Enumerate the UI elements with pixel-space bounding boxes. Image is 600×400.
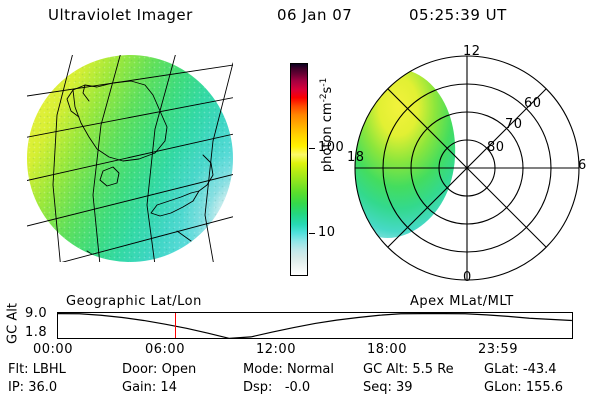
status-flt: Flt: LBHL: [8, 362, 66, 377]
altitude-axis-title: GC Alt: [6, 296, 21, 352]
status-glon: GLon: 155.6: [484, 380, 563, 395]
polar-plot-panel: [355, 56, 579, 280]
altitude-ytick-high: 9.0: [25, 306, 47, 321]
status-door: Door: Open: [122, 362, 196, 377]
status-gcalt-value: 5.5 Re: [412, 362, 453, 377]
status-seq-value: 39: [396, 380, 413, 395]
status-row-2: IP: 36.0 Gain: 14 Dsp: -0.0 Seq: 39 GLon…: [0, 380, 600, 398]
altitude-trace: [58, 313, 572, 340]
status-glon-value: 155.6: [526, 380, 563, 395]
status-mode-label: Mode:: [243, 362, 283, 377]
cb-title-main: photon cm: [320, 102, 335, 172]
geographic-panel-caption: Geographic Lat/Lon: [66, 294, 202, 309]
colorbar-tick-10: [309, 233, 315, 234]
status-door-value: Open: [162, 362, 197, 377]
mlt-label-12: 12: [463, 44, 481, 59]
status-mode: Mode: Normal: [243, 362, 334, 377]
status-panel: Flt: LBHL Door: Open Mode: Normal GC Alt…: [0, 362, 600, 398]
status-ip: IP: 36.0: [8, 380, 57, 395]
polar-plot: [355, 56, 579, 280]
status-dsp-value: -0.0: [277, 380, 311, 395]
colorbar-label-10: 10: [318, 225, 336, 240]
observation-date: 06 Jan 07: [277, 6, 352, 24]
coastline-fragments: [33, 65, 223, 262]
status-dsp-label: Dsp:: [243, 380, 272, 395]
status-glat-value: -43.4: [523, 362, 557, 377]
status-gain: Gain: 14: [122, 380, 177, 395]
status-gcalt: GC Alt: 5.5 Re: [363, 362, 454, 377]
cb-title-exp1: -2: [319, 93, 329, 102]
status-seq-label: Seq:: [363, 380, 392, 395]
altitude-ytick-low: 1.8: [25, 325, 47, 340]
status-glat: GLat: -43.4: [484, 362, 557, 377]
polar-panel-caption: Apex MLat/MLT: [410, 294, 514, 309]
time-tick-12: 12:00: [256, 342, 296, 357]
geographic-overlay: [27, 55, 233, 262]
status-ip-label: IP:: [8, 380, 24, 395]
status-row-1: Flt: LBHL Door: Open Mode: Normal GC Alt…: [0, 362, 600, 380]
time-tick-24: 23:59: [478, 342, 518, 357]
status-ip-value: 36.0: [28, 380, 57, 395]
status-glat-label: GLat:: [484, 362, 519, 377]
colorbar-axis-title: photon cm-2s-1: [304, 53, 350, 213]
mlat-label-70: 70: [505, 117, 523, 132]
observation-time: 05:25:39 UT: [409, 6, 507, 24]
status-seq: Seq: 39: [363, 380, 413, 395]
coastline-tasmania: [100, 167, 119, 186]
status-mode-value: Normal: [287, 362, 334, 377]
coastline-new-zealand: [151, 155, 213, 216]
mlat-label-60: 60: [524, 96, 542, 111]
mlat-label-80: 80: [487, 140, 505, 155]
status-glon-label: GLon:: [484, 380, 522, 395]
status-gcalt-label: GC Alt:: [363, 362, 408, 377]
status-flt-value: LBHL: [33, 362, 66, 377]
status-door-label: Door:: [122, 362, 157, 377]
coastline-australia: [67, 81, 167, 161]
status-dsp: Dsp: -0.0: [243, 380, 310, 395]
latitude-lines: [27, 63, 233, 262]
cb-title-mid: s: [320, 87, 335, 94]
geographic-image-panel: [27, 55, 233, 262]
mlt-label-0: 0: [463, 270, 472, 285]
current-time-marker: [175, 313, 176, 338]
status-flt-label: Flt:: [8, 362, 29, 377]
time-tick-6: 06:00: [145, 342, 185, 357]
cb-title-exp2: -1: [319, 78, 329, 87]
time-tick-18: 18:00: [367, 342, 407, 357]
altitude-plot: [57, 312, 573, 339]
mlt-label-6: 6: [578, 158, 587, 173]
uv-imager-display: Ultraviolet Imager 06 Jan 07 05:25:39 UT: [0, 0, 600, 400]
page-title: Ultraviolet Imager: [48, 6, 193, 24]
status-gain-label: Gain:: [122, 380, 156, 395]
mlt-label-18: 18: [347, 150, 365, 165]
time-tick-0: 00:00: [33, 342, 73, 357]
polar-grid: [355, 56, 579, 280]
status-gain-value: 14: [160, 380, 177, 395]
